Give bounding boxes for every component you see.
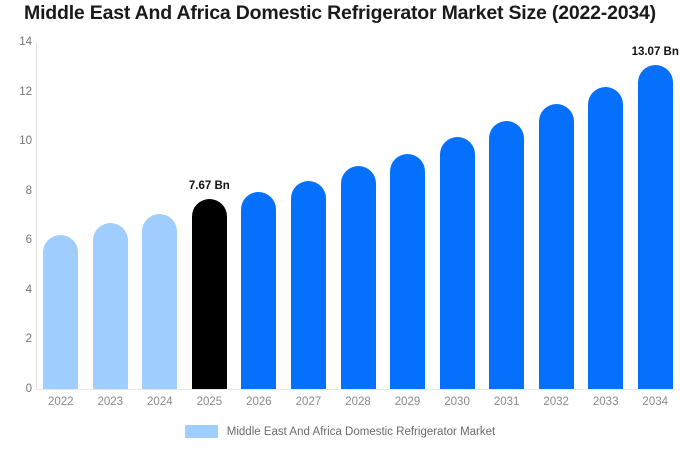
bar-2027[interactable] (291, 181, 326, 389)
bar-slot-2026[interactable] (241, 42, 276, 389)
bar-slot-2034[interactable]: 13.07 Bn (638, 42, 673, 389)
bar-2033[interactable] (588, 87, 623, 389)
y-axis-tick-8: 8 (4, 185, 32, 197)
x-axis-tick-2029: 2029 (383, 396, 433, 408)
bar-slot-2030[interactable] (440, 42, 475, 389)
legend-swatch-icon (185, 425, 218, 438)
bar-slot-2022[interactable] (43, 42, 78, 389)
bar-2024[interactable] (142, 214, 177, 389)
x-axis-tick-2024: 2024 (135, 396, 185, 408)
bar-2023[interactable] (93, 223, 128, 389)
y-axis-tick-14: 14 (4, 36, 32, 48)
bar-value-label-2034: 13.07 Bn (632, 46, 679, 58)
bar-2031[interactable] (489, 121, 524, 389)
bar-slot-2028[interactable] (341, 42, 376, 389)
x-axis-tick-2027: 2027 (284, 396, 334, 408)
x-axis-tick-2031: 2031 (482, 396, 532, 408)
bar-slot-2025[interactable]: 7.67 Bn (192, 42, 227, 389)
x-axis-tick-2032: 2032 (531, 396, 581, 408)
y-axis-labels: 02468101214 (0, 0, 32, 450)
x-axis-tick-2025: 2025 (185, 396, 235, 408)
chart-container: Middle East And Africa Domestic Refriger… (0, 0, 680, 450)
bar-slot-2027[interactable] (291, 42, 326, 389)
bar-2034[interactable] (638, 65, 673, 389)
bar-2026[interactable] (241, 192, 276, 389)
x-axis-tick-2023: 2023 (86, 396, 136, 408)
bar-slot-2033[interactable] (588, 42, 623, 389)
bar-2028[interactable] (341, 166, 376, 389)
bar-slot-2032[interactable] (539, 42, 574, 389)
y-axis-tick-2: 2 (4, 333, 32, 345)
chart-title: Middle East And Africa Domestic Refriger… (0, 2, 680, 25)
x-axis-tick-2026: 2026 (234, 396, 284, 408)
bar-series: 7.67 Bn13.07 Bn (36, 42, 680, 389)
y-axis-tick-6: 6 (4, 234, 32, 246)
bar-2032[interactable] (539, 104, 574, 389)
bar-slot-2031[interactable] (489, 42, 524, 389)
chart-legend: Middle East And Africa Domestic Refriger… (0, 425, 680, 438)
x-axis-tick-2033: 2033 (581, 396, 631, 408)
bar-2029[interactable] (390, 154, 425, 389)
y-axis-tick-0: 0 (4, 383, 32, 395)
x-axis-tick-2022: 2022 (36, 396, 86, 408)
bar-2030[interactable] (440, 137, 475, 389)
x-axis-labels: 2022202320242025202620272028202920302031… (36, 396, 680, 416)
y-axis-tick-12: 12 (4, 86, 32, 98)
y-axis-tick-4: 4 (4, 284, 32, 296)
bar-value-label-2025: 7.67 Bn (189, 180, 230, 192)
y-axis-tick-10: 10 (4, 135, 32, 147)
legend-label: Middle East And Africa Domestic Refriger… (227, 426, 495, 438)
x-axis-tick-2030: 2030 (432, 396, 482, 408)
x-axis-line (36, 389, 680, 390)
x-axis-tick-2034: 2034 (630, 396, 680, 408)
bar-slot-2024[interactable] (142, 42, 177, 389)
bar-2025[interactable] (192, 199, 227, 389)
bar-2022[interactable] (43, 235, 78, 389)
bar-slot-2029[interactable] (390, 42, 425, 389)
bar-slot-2023[interactable] (93, 42, 128, 389)
x-axis-tick-2028: 2028 (333, 396, 383, 408)
